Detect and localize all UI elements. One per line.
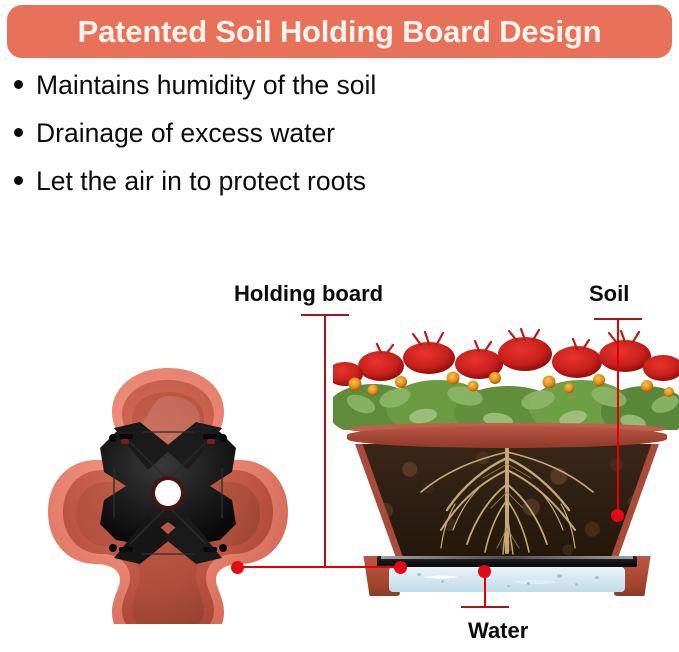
- feature-bullet-list: Maintains humidity of the soil Drainage …: [14, 72, 534, 216]
- red-flowers: [333, 329, 679, 386]
- water-marker: [478, 565, 491, 578]
- holding-board-leader-run: [237, 566, 405, 568]
- water-leader-cap: [461, 606, 509, 608]
- cross-section-pot: [333, 328, 679, 620]
- soil-marker: [611, 509, 624, 522]
- pot-rim: [347, 426, 667, 448]
- callout-label-holding-board: Holding board: [234, 283, 383, 305]
- top-view-clover-pot: [18, 362, 318, 624]
- clover-pot-illustration: [18, 362, 318, 624]
- bullet-text: Maintains humidity of the soil: [36, 72, 376, 99]
- callout-label-soil: Soil: [589, 283, 629, 305]
- header-banner: Patented Soil Holding Board Design: [7, 5, 672, 58]
- bullet-text: Drainage of excess water: [36, 120, 335, 147]
- holding-board-leader-stem: [324, 314, 326, 567]
- center-drain-hole: [151, 476, 185, 510]
- soil-leader-stem: [617, 318, 619, 518]
- holding-board-marker-left: [231, 561, 244, 574]
- bullet-text: Let the air in to protect roots: [36, 168, 366, 195]
- water-reservoir: [389, 567, 625, 592]
- page-title: Patented Soil Holding Board Design: [78, 16, 602, 47]
- list-item: Drainage of excess water: [14, 120, 534, 168]
- list-item: Maintains humidity of the soil: [14, 72, 534, 120]
- bullet-dot-icon: [14, 128, 23, 137]
- holding-board-highlight: [381, 556, 633, 559]
- list-item: Let the air in to protect roots: [14, 168, 534, 216]
- bullet-dot-icon: [14, 80, 23, 89]
- product-diagram: Holding board Soil Water: [0, 250, 679, 652]
- chrysanthemum-plants: [333, 328, 679, 430]
- plant-roots: [355, 444, 659, 559]
- holding-board-marker-right: [394, 561, 407, 574]
- callout-label-water: Water: [468, 620, 528, 642]
- bullet-dot-icon: [14, 176, 23, 185]
